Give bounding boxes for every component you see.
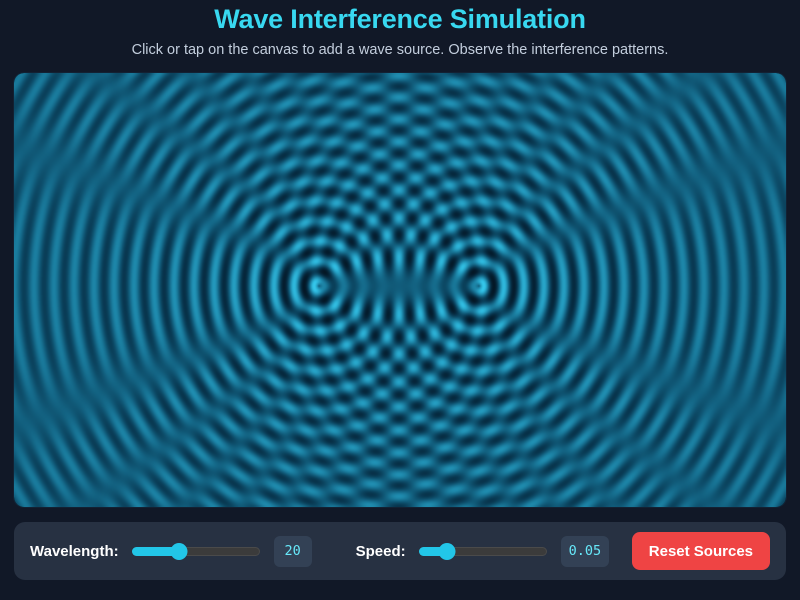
reset-sources-button[interactable]: Reset Sources: [632, 532, 770, 570]
speed-slider-thumb[interactable]: [438, 543, 455, 560]
page-title: Wave Interference Simulation: [214, 3, 586, 35]
controls-panel: Wavelength: 20 Speed: 0.05 Reset Sources: [14, 522, 786, 580]
wavelength-value: 20: [274, 536, 312, 567]
wavelength-control: Wavelength: 20: [30, 536, 312, 567]
speed-value: 0.05: [561, 536, 610, 567]
wavelength-label: Wavelength:: [30, 543, 119, 560]
speed-control: Speed: 0.05: [356, 536, 610, 567]
speed-slider[interactable]: [419, 540, 547, 562]
speed-label: Speed:: [356, 543, 406, 560]
canvas-container[interactable]: [14, 73, 786, 507]
wave-simulation-canvas[interactable]: [14, 73, 786, 507]
wavelength-slider-thumb[interactable]: [170, 543, 187, 560]
page-subtitle: Click or tap on the canvas to add a wave…: [132, 41, 669, 59]
wavelength-slider[interactable]: [132, 540, 260, 562]
